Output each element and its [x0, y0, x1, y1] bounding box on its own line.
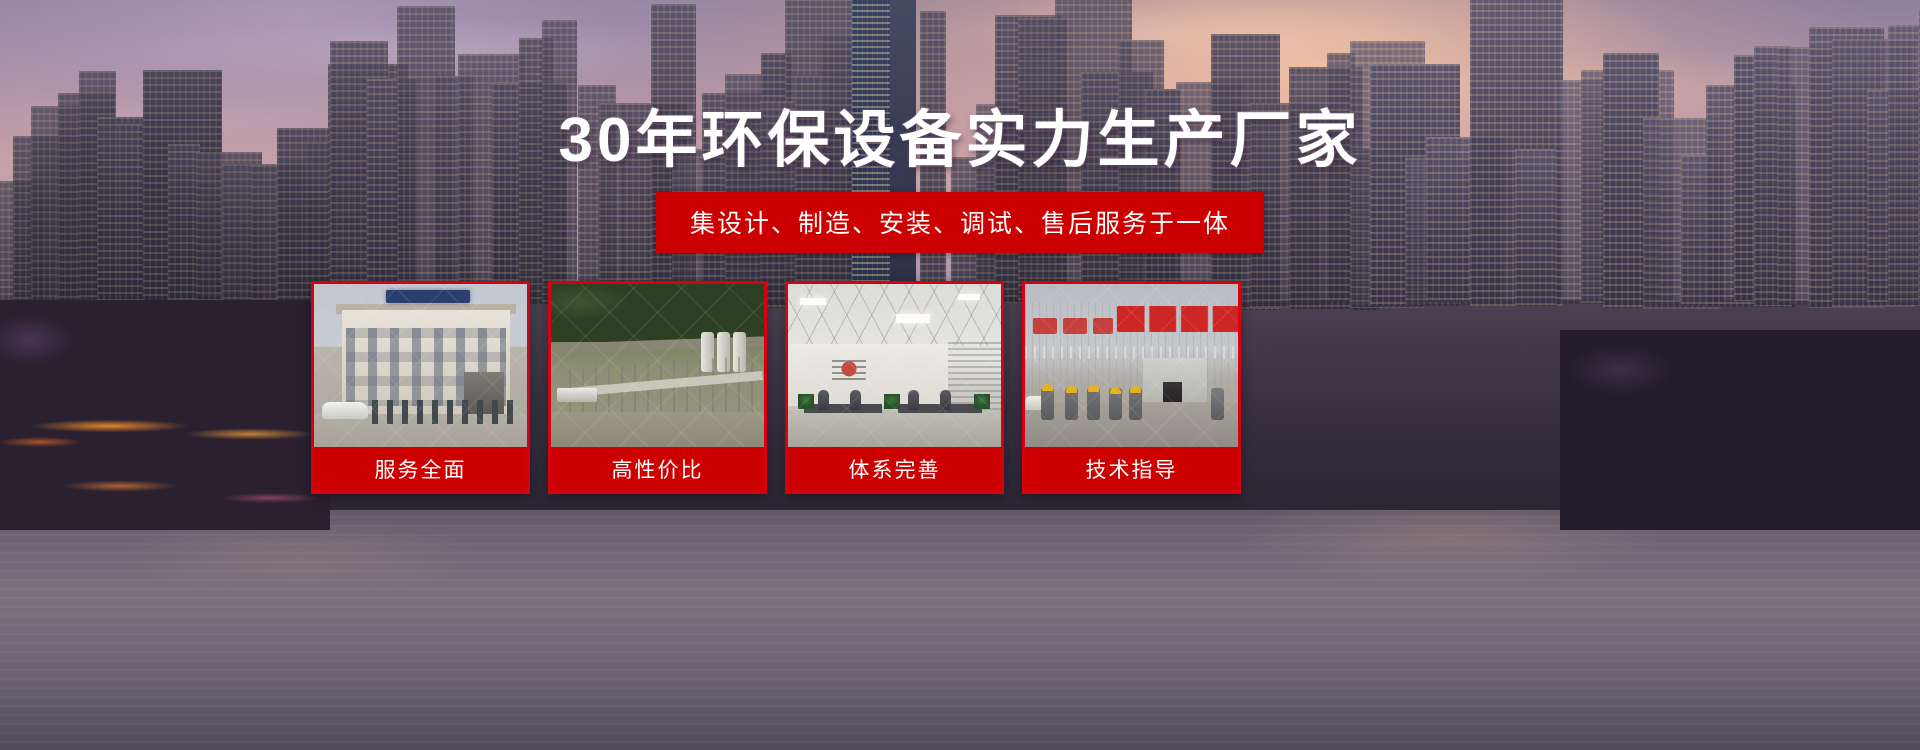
factory-workers-photo: [1025, 284, 1238, 447]
building-signage: [386, 290, 470, 303]
water-reflection: [0, 498, 1920, 750]
feature-card[interactable]: 服务全面: [311, 281, 530, 494]
feature-card[interactable]: 高性价比: [548, 281, 767, 494]
feature-card-caption: 技术指导: [1025, 447, 1238, 491]
factory-wall-slogan: [1117, 306, 1238, 332]
right-tree-canopy: [1560, 330, 1920, 530]
feature-card-caption: 高性价比: [551, 447, 764, 491]
feature-card[interactable]: 体系完善: [785, 281, 1004, 494]
office-interior-photo: [788, 284, 1001, 447]
page-title: 30年环保设备实力生产厂家: [0, 104, 1920, 177]
feature-card-list: 服务全面 高性价比: [311, 281, 1241, 494]
feature-card-caption: 服务全面: [314, 447, 527, 491]
feature-card-caption: 体系完善: [788, 447, 1001, 491]
wall-logo: [832, 360, 866, 382]
feature-card[interactable]: 技术指导: [1022, 281, 1241, 494]
aerial-production-plant-photo: [551, 284, 764, 447]
subtitle-container: 集设计、制造、安装、调试、售后服务于一体: [0, 192, 1920, 253]
company-office-building-photo: [314, 284, 527, 447]
subtitle-badge: 集设计、制造、安装、调试、售后服务于一体: [656, 192, 1264, 253]
hero-banner: 30年环保设备实力生产厂家 集设计、制造、安装、调试、售后服务于一体 服务全: [0, 0, 1920, 750]
